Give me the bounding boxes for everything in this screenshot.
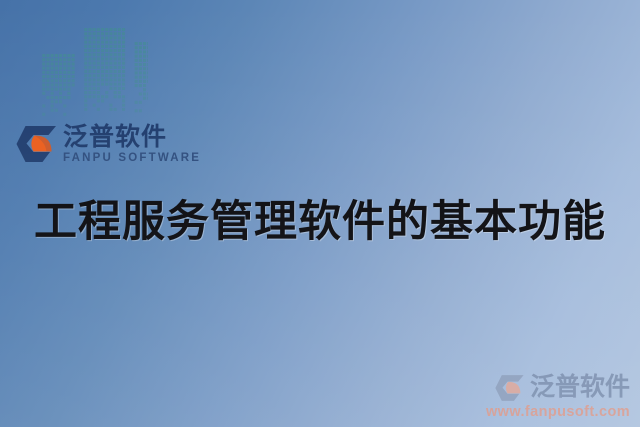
brand-name-cn: 泛普软件 xyxy=(63,124,201,150)
brand-logo-text: 泛普软件 FANPU SOFTWARE xyxy=(63,124,201,165)
page-title: 工程服务管理软件的基本功能 xyxy=(0,198,640,247)
brand-logo: 泛普软件 FANPU SOFTWARE xyxy=(15,120,201,168)
fanpu-logo-mark-icon xyxy=(493,373,527,403)
brand-name-en: FANPU SOFTWARE xyxy=(63,152,201,165)
watermark-name-cn: 泛普软件 xyxy=(530,375,630,400)
banner-canvas: 泛普软件 FANPU SOFTWARE 工程服务管理软件的基本功能 泛普软件 w… xyxy=(0,0,640,427)
dotted-city-skyline-icon xyxy=(38,28,148,128)
watermark-url: www.fanpusoft.com xyxy=(486,405,630,420)
fanpu-logo-mark-icon xyxy=(15,123,59,165)
watermark-logo-row: 泛普软件 xyxy=(486,373,630,403)
watermark: 泛普软件 www.fanpusoft.com xyxy=(486,373,630,420)
